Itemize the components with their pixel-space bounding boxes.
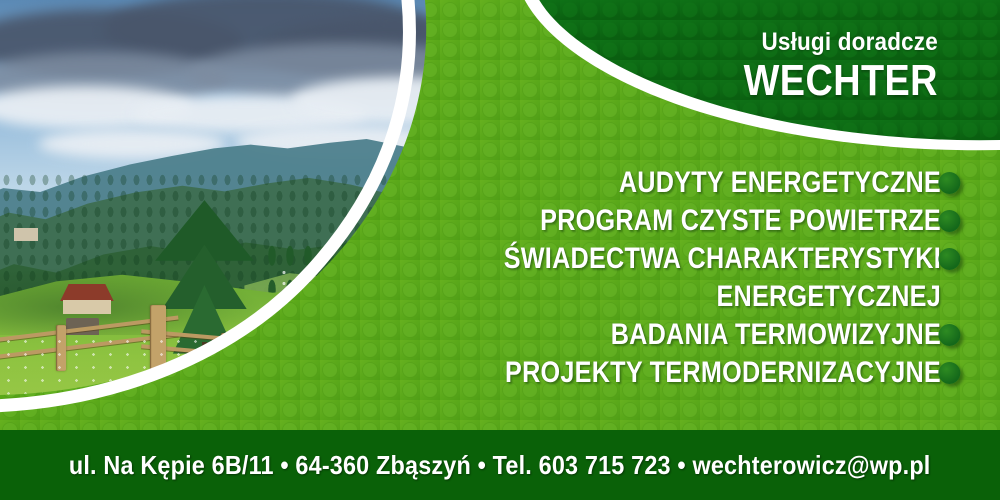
service-item: AUDYTY ENERGETYCZNE bbox=[353, 164, 941, 202]
service-label: ŚWIADECTWA CHARAKTERYSTYKI bbox=[504, 242, 941, 275]
brand-tagline: Usługi doradcze bbox=[735, 30, 938, 55]
service-label: BADANIA TERMOWIZYJNE bbox=[611, 318, 941, 351]
bullet-dot-icon bbox=[938, 172, 960, 194]
bullet-dot-icon bbox=[938, 362, 960, 384]
contact-line: ul. Na Kępie 6B/11 • 64-360 Zbąszyń • Te… bbox=[69, 450, 931, 481]
service-item: PROJEKTY TERMODERNIZACYJNE bbox=[353, 354, 941, 392]
service-label: AUDYTY ENERGETYCZNE bbox=[619, 166, 941, 199]
service-item: ŚWIADECTWA CHARAKTERYSTYKI bbox=[353, 240, 941, 278]
bullet-dot-icon bbox=[938, 248, 960, 270]
service-item: PROGRAM CZYSTE POWIETRZE bbox=[353, 202, 941, 240]
banner: Usługi doradcze WECHTER AUDYTY ENERGETYC… bbox=[0, 0, 1000, 500]
service-item: BADANIA TERMOWIZYJNE bbox=[353, 316, 941, 354]
service-label: PROJEKTY TERMODERNIZACYJNE bbox=[505, 356, 941, 389]
brand-name: WECHTER bbox=[744, 59, 938, 104]
bullet-dot-icon bbox=[938, 324, 960, 346]
bullet-dot-icon bbox=[938, 210, 960, 232]
service-label: ENERGETYCZNEJ bbox=[716, 280, 941, 313]
services-list: AUDYTY ENERGETYCZNE PROGRAM CZYSTE POWIE… bbox=[241, 164, 941, 392]
contact-bar: ul. Na Kępie 6B/11 • 64-360 Zbąszyń • Te… bbox=[0, 430, 1000, 500]
service-item-continuation: ENERGETYCZNEJ bbox=[353, 278, 941, 316]
service-label: PROGRAM CZYSTE POWIETRZE bbox=[540, 204, 941, 237]
brand-block: Usługi doradcze WECHTER bbox=[712, 30, 938, 104]
